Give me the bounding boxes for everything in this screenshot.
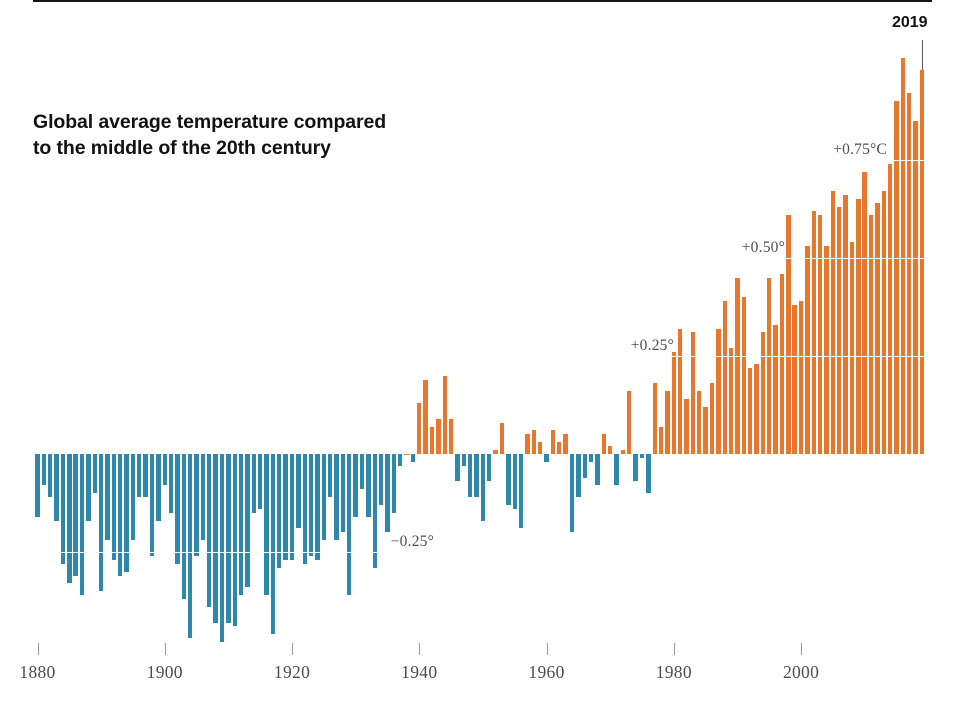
bar-1946[interactable] [455,454,459,481]
bar-1965[interactable] [576,454,580,497]
bar-1956[interactable] [519,454,523,528]
bar-1989[interactable] [729,348,733,454]
bar-1997[interactable] [780,274,784,454]
bar-1885[interactable] [67,454,71,583]
bar-1915[interactable] [258,454,262,509]
bar-1901[interactable] [169,454,173,513]
bar-1969[interactable] [602,434,606,454]
bar-2008[interactable] [850,242,854,454]
bar-1938[interactable] [404,454,408,455]
x-tick-1960 [547,643,548,655]
bar-1952[interactable] [493,450,497,454]
bar-1907[interactable] [207,454,211,607]
x-tick-label-1900: 1900 [147,662,183,683]
bar-2009[interactable] [856,199,860,454]
bar-1927[interactable] [334,454,338,540]
bar-1945[interactable] [449,419,453,454]
bar-1975[interactable] [640,454,644,458]
x-tick-label-1960: 1960 [528,662,564,683]
x-tick-label-1940: 1940 [401,662,437,683]
bar-1949[interactable] [474,454,478,497]
bar-1941[interactable] [423,380,427,454]
bar-1929[interactable] [347,454,351,595]
bar-1886[interactable] [73,454,77,576]
bar-1964[interactable] [570,454,574,532]
bar-1921[interactable] [296,454,300,528]
bar-1980[interactable] [672,352,676,454]
bar-1931[interactable] [360,454,364,489]
bar-2010[interactable] [862,172,866,454]
bar-1984[interactable] [697,391,701,454]
chart-page: Global average temperature compared to t… [0,0,960,706]
bar-1992[interactable] [748,368,752,454]
x-tick-label-1980: 1980 [656,662,692,683]
bar-1889[interactable] [93,454,97,493]
bar-1967[interactable] [589,454,593,462]
bar-1970[interactable] [608,446,612,454]
bar-1951[interactable] [487,454,491,481]
bar-2011[interactable] [869,215,873,454]
bar-1972[interactable] [621,450,625,454]
bar-1896[interactable] [137,454,141,497]
bar-1954[interactable] [506,454,510,505]
bar-1983[interactable] [691,332,695,454]
bar-1944[interactable] [443,376,447,454]
bar-1912[interactable] [239,454,243,595]
x-tick-1940 [419,643,420,655]
callout-leader-line [922,40,923,70]
bar-2018[interactable] [913,121,917,454]
bar-1973[interactable] [627,391,631,454]
bar-2014[interactable] [888,164,892,454]
bar-1958[interactable] [532,430,536,454]
bar-1978[interactable] [659,427,663,454]
bar-1963[interactable] [563,434,567,454]
x-tick-label-2000: 2000 [783,662,819,683]
bar-1930[interactable] [353,454,357,517]
bar-chart-plot: +0.75°C+0.50°+0.25°−0.25° 18801900192019… [0,0,960,706]
bar-2004[interactable] [824,246,828,454]
bar-1976[interactable] [646,454,650,493]
bar-1955[interactable] [513,454,517,509]
bar-1913[interactable] [245,454,249,587]
bar-1995[interactable] [767,278,771,454]
y-axis-label-0_75: +0.75°C [0,141,887,159]
bar-1882[interactable] [48,454,52,497]
bar-1981[interactable] [678,329,682,454]
bar-1998[interactable] [786,215,790,454]
bar-1947[interactable] [462,454,466,466]
zero-baseline [33,0,932,2]
bar-1925[interactable] [322,454,326,540]
bar-2012[interactable] [875,203,879,454]
x-tick-label-1880: 1880 [19,662,55,683]
bar-2003[interactable] [818,215,822,454]
bar-1990[interactable] [735,278,739,454]
gridline-0_75 [33,160,932,161]
bar-1991[interactable] [742,297,746,454]
bar-1890[interactable] [99,454,103,591]
x-tick-1980 [674,643,675,655]
bar-1950[interactable] [481,454,485,521]
bar-1968[interactable] [595,454,599,485]
bar-1893[interactable] [118,454,122,576]
bar-1939[interactable] [411,454,415,462]
bar-2019[interactable] [920,70,924,454]
bar-2007[interactable] [843,195,847,454]
bar-1897[interactable] [143,454,147,497]
bar-1996[interactable] [773,325,777,454]
bar-1987[interactable] [716,329,720,454]
bar-1934[interactable] [379,454,383,505]
bar-1937[interactable] [398,454,402,466]
bar-1935[interactable] [385,454,389,532]
y-axis-label-0_5: +0.50° [0,239,785,257]
x-tick-2000 [801,643,802,655]
bar-2006[interactable] [837,207,841,454]
y-axis-label-neg0_25: −0.25° [0,533,434,551]
bar-2005[interactable] [831,191,835,454]
bar-1900[interactable] [163,454,167,485]
bar-1948[interactable] [468,454,472,497]
bar-2013[interactable] [882,191,886,454]
bar-1979[interactable] [665,391,669,454]
bar-1880[interactable] [35,454,39,517]
x-tick-1880 [38,643,39,655]
bar-1895[interactable] [131,454,135,540]
bar-1985[interactable] [703,407,707,454]
bar-1993[interactable] [754,364,758,454]
x-tick-label-1920: 1920 [274,662,310,683]
bar-1899[interactable] [156,454,160,521]
bar-2001[interactable] [805,246,809,454]
bar-2016[interactable] [901,58,905,454]
bar-1966[interactable] [583,454,587,478]
bar-1994[interactable] [761,332,765,454]
bar-1943[interactable] [436,419,440,454]
bar-1988[interactable] [723,301,727,454]
bar-1887[interactable] [80,454,84,595]
bar-1974[interactable] [633,454,637,481]
bar-1942[interactable] [430,427,434,454]
bar-1936[interactable] [392,454,396,513]
bar-1961[interactable] [551,430,555,454]
bar-1932[interactable] [366,454,370,517]
x-tick-1900 [165,643,166,655]
bar-2000[interactable] [799,301,803,454]
gridline-0_5 [33,258,932,259]
bar-1959[interactable] [538,442,542,454]
bar-1928[interactable] [341,454,345,532]
callout-2019-label: 2019 [892,14,928,32]
bar-1960[interactable] [544,454,548,462]
bar-1888[interactable] [86,454,90,521]
bar-1906[interactable] [201,454,205,540]
bar-1953[interactable] [500,423,504,454]
bar-2002[interactable] [812,211,816,454]
bar-1940[interactable] [417,403,421,454]
bar-1962[interactable] [557,442,561,454]
gridline-0_25 [33,356,932,357]
gridline--0_25 [33,552,932,553]
bar-1999[interactable] [792,305,796,454]
bar-1982[interactable] [684,399,688,454]
x-tick-1920 [292,643,293,655]
bar-1903[interactable] [182,454,186,599]
bar-1971[interactable] [614,454,618,485]
bar-1926[interactable] [328,454,332,497]
bar-1977[interactable] [653,383,657,454]
bar-1894[interactable] [124,454,128,572]
bar-1986[interactable] [710,383,714,454]
bar-1881[interactable] [42,454,46,485]
bar-1883[interactable] [54,454,58,521]
bar-1916[interactable] [264,454,268,595]
y-axis-label-0_25: +0.25° [0,337,674,355]
bar-1891[interactable] [105,454,109,540]
bar-2015[interactable] [894,101,898,454]
bar-1957[interactable] [525,434,529,454]
bar-2017[interactable] [907,93,911,454]
bar-1914[interactable] [252,454,256,513]
